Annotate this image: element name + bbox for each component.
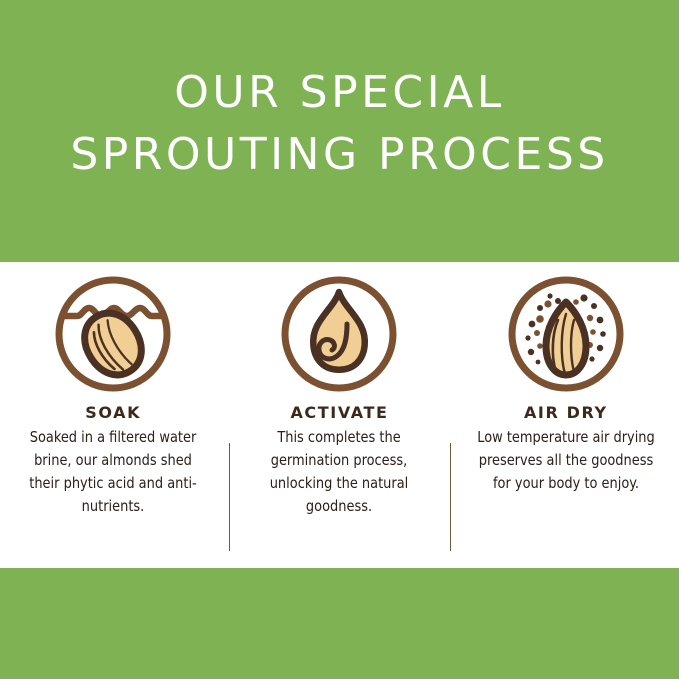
process-steps: SOAK Soaked in a filtered water brine, o… bbox=[0, 272, 679, 562]
column-divider-1 bbox=[229, 443, 230, 551]
page-title-line-2: SPROUTING PROCESS bbox=[0, 124, 679, 186]
sprouting-process-infographic: OUR SPECIAL SPROUTING PROCESS bbox=[0, 0, 679, 679]
step-body-soak: Soaked in a filtered water brine, our al… bbox=[20, 426, 206, 518]
step-activate: ACTIVATE This completes the germination … bbox=[226, 272, 452, 518]
bottom-green-band bbox=[0, 568, 679, 679]
step-title-air-dry: AIR DRY bbox=[524, 403, 608, 423]
step-title-soak: SOAK bbox=[85, 403, 141, 423]
page-title: OUR SPECIAL SPROUTING PROCESS bbox=[0, 62, 679, 186]
air-dry-almond-icon bbox=[504, 272, 628, 396]
page-title-line-1: OUR SPECIAL bbox=[0, 62, 679, 124]
step-soak: SOAK Soaked in a filtered water brine, o… bbox=[0, 272, 226, 518]
soak-almond-in-water-icon bbox=[51, 272, 175, 396]
activate-sprouting-seed-icon bbox=[277, 272, 401, 396]
step-body-air-dry: Low temperature air drying preserves all… bbox=[473, 426, 659, 495]
step-body-activate: This completes the germination process, … bbox=[246, 426, 432, 518]
step-title-activate: ACTIVATE bbox=[290, 403, 388, 423]
step-air-dry: AIR DRY Low temperature air drying prese… bbox=[453, 272, 679, 495]
column-divider-2 bbox=[450, 443, 451, 551]
